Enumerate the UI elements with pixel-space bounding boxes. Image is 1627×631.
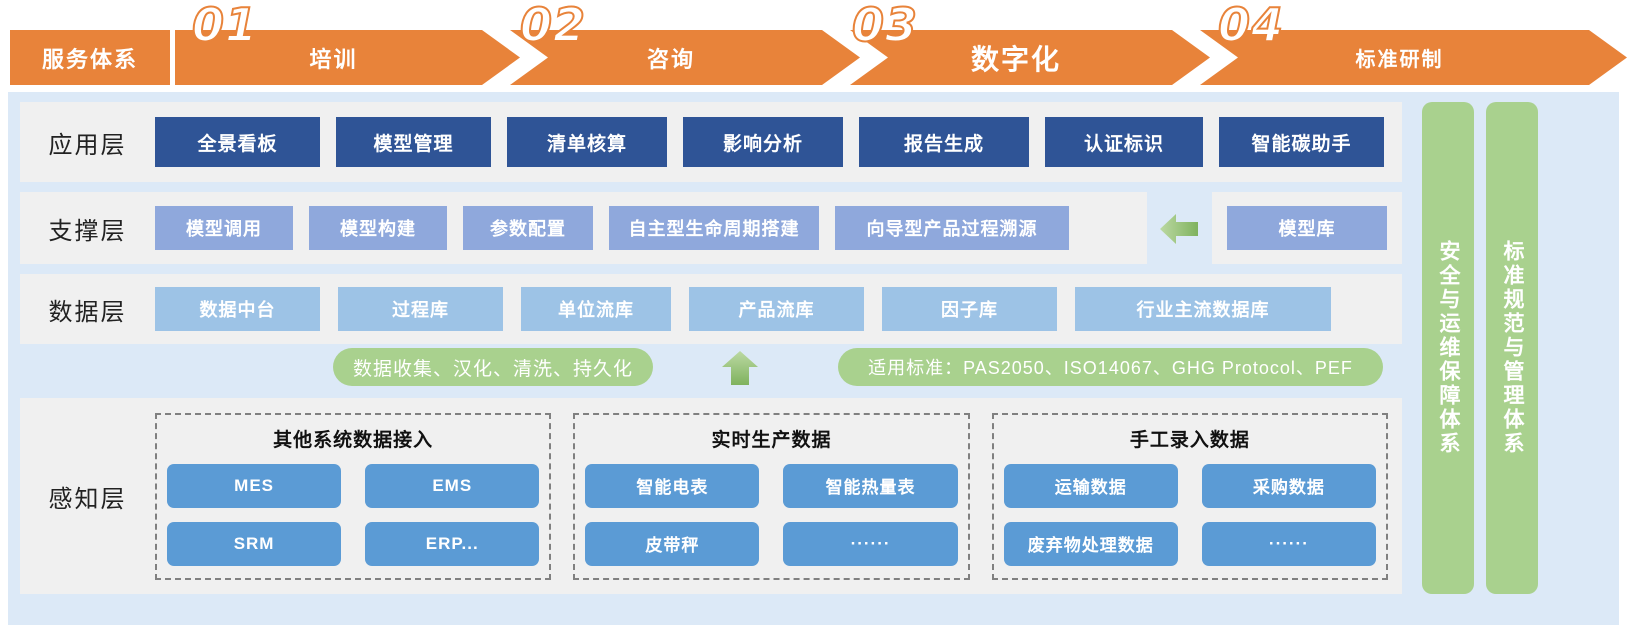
- data-layer-boxes: 数据中台 过程库 单位流库 产品流库 因子库 行业主流数据库: [155, 287, 1402, 331]
- process-step-2-number: 02: [520, 0, 586, 52]
- app-box-smart-carbon-assistant[interactable]: 智能碳助手: [1219, 117, 1384, 167]
- data-collection-pill: 数据收集、汉化、清洗、持久化: [333, 348, 653, 386]
- sensing-group-other-systems-title: 其他系统数据接入: [273, 425, 433, 452]
- sense-box-smart-heat-meter[interactable]: 智能热量表: [783, 464, 957, 508]
- processing-strip: 数据收集、汉化、清洗、持久化 适用标准：PAS2050、ISO14067、GHG…: [20, 348, 1402, 394]
- data-layer-label: 数据层: [20, 292, 155, 327]
- sense-box-more-1[interactable]: ······: [783, 522, 957, 566]
- sense-box-waste-treatment-data[interactable]: 废弃物处理数据: [1004, 522, 1178, 566]
- data-box-industry-database[interactable]: 行业主流数据库: [1075, 287, 1331, 331]
- process-step-2-label: 咨询: [647, 42, 695, 74]
- application-layer-boxes: 全景看板 模型管理 清单核算 影响分析 报告生成 认证标识 智能碳助手: [155, 117, 1402, 167]
- support-layer-boxes: 模型调用 模型构建 参数配置 自主型生命周期搭建 向导型产品过程溯源: [155, 206, 1147, 250]
- sensing-group-realtime-production-items: 智能电表 智能热量表 皮带秤 ······: [585, 464, 957, 566]
- app-box-model-management[interactable]: 模型管理: [336, 117, 491, 167]
- sensing-layer-label: 感知层: [20, 479, 155, 514]
- process-step-4-number: 04: [1218, 0, 1284, 52]
- support-box-model-library[interactable]: 模型库: [1227, 206, 1387, 250]
- sense-box-srm[interactable]: SRM: [167, 522, 341, 566]
- support-layer: 支撑层 模型调用 模型构建 参数配置 自主型生命周期搭建 向导型产品过程溯源: [20, 192, 1402, 264]
- sensing-group-manual-entry-items: 运输数据 采购数据 废弃物处理数据 ······: [1004, 464, 1376, 566]
- side-panel-standards-management[interactable]: 标准规范与管理体系: [1486, 102, 1538, 594]
- application-layer: 应用层 全景看板 模型管理 清单核算 影响分析 报告生成 认证标识 智能碳助手: [20, 102, 1402, 182]
- support-box-model-building[interactable]: 模型构建: [309, 206, 447, 250]
- app-box-certification-label[interactable]: 认证标识: [1045, 117, 1203, 167]
- architecture-diagram: 服务体系 培训 咨询 数字化 标准研制 01 02 03 04 应用层 全景看板…: [0, 0, 1627, 631]
- app-box-panorama-dashboard[interactable]: 全景看板: [155, 117, 320, 167]
- process-step-1-label: 培训: [309, 42, 357, 74]
- sense-box-ems[interactable]: EMS: [365, 464, 539, 508]
- support-layer-main-panel: 支撑层 模型调用 模型构建 参数配置 自主型生命周期搭建 向导型产品过程溯源: [20, 192, 1147, 264]
- sense-box-belt-scale[interactable]: 皮带秤: [585, 522, 759, 566]
- data-box-unit-flow-library[interactable]: 单位流库: [521, 287, 671, 331]
- app-box-impact-analysis[interactable]: 影响分析: [683, 117, 843, 167]
- arrow-up-green-icon: [720, 351, 760, 385]
- support-layer-label: 支撑层: [20, 211, 155, 246]
- sensing-group-other-systems: 其他系统数据接入 MES EMS SRM ERP...: [155, 413, 551, 580]
- sensing-group-realtime-production: 实时生产数据 智能电表 智能热量表 皮带秤 ······: [573, 413, 969, 580]
- sense-box-procurement-data[interactable]: 采购数据: [1202, 464, 1376, 508]
- process-banner: 服务体系 培训 咨询 数字化 标准研制 01 02 03 04: [0, 0, 1627, 88]
- data-box-factor-library[interactable]: 因子库: [882, 287, 1057, 331]
- support-box-lifecycle-builder[interactable]: 自主型生命周期搭建: [609, 206, 819, 250]
- sensing-group-other-systems-items: MES EMS SRM ERP...: [167, 464, 539, 566]
- sense-box-erp[interactable]: ERP...: [365, 522, 539, 566]
- applicable-standards-pill: 适用标准：PAS2050、ISO14067、GHG Protocol、PEF: [838, 348, 1383, 386]
- data-box-data-midend[interactable]: 数据中台: [155, 287, 320, 331]
- arrow-left-green-icon: [1160, 212, 1198, 246]
- process-step-1-number: 01: [192, 0, 258, 52]
- app-box-inventory-accounting[interactable]: 清单核算: [507, 117, 667, 167]
- data-layer: 数据层 数据中台 过程库 单位流库 产品流库 因子库 行业主流数据库: [20, 274, 1402, 344]
- data-box-product-flow-library[interactable]: 产品流库: [689, 287, 864, 331]
- sensing-group-manual-entry-title: 手工录入数据: [1130, 425, 1250, 452]
- sensing-group-realtime-production-title: 实时生产数据: [711, 425, 831, 452]
- support-layer-library-panel: 模型库: [1212, 192, 1402, 264]
- support-box-guided-traceability[interactable]: 向导型产品过程溯源: [835, 206, 1069, 250]
- process-step-3-number: 03: [852, 0, 918, 52]
- banner-title: 服务体系: [10, 30, 170, 85]
- side-panel-security-ops[interactable]: 安全与运维保障体系: [1422, 102, 1474, 594]
- app-box-report-generation[interactable]: 报告生成: [859, 117, 1029, 167]
- sense-box-more-2[interactable]: ······: [1202, 522, 1376, 566]
- process-step-3-label: 数字化: [971, 38, 1061, 78]
- process-step-4-label: 标准研制: [1356, 43, 1444, 72]
- sense-box-mes[interactable]: MES: [167, 464, 341, 508]
- sensing-group-manual-entry: 手工录入数据 运输数据 采购数据 废弃物处理数据 ······: [992, 413, 1388, 580]
- sense-box-transport-data[interactable]: 运输数据: [1004, 464, 1178, 508]
- application-layer-label: 应用层: [20, 125, 155, 160]
- support-box-parameter-config[interactable]: 参数配置: [463, 206, 593, 250]
- platform-canvas: 应用层 全景看板 模型管理 清单核算 影响分析 报告生成 认证标识 智能碳助手 …: [8, 92, 1619, 625]
- sensing-layer-groups: 其他系统数据接入 MES EMS SRM ERP... 实时生产数据 智能电表 …: [155, 413, 1402, 580]
- support-box-model-invocation[interactable]: 模型调用: [155, 206, 293, 250]
- data-box-process-library[interactable]: 过程库: [338, 287, 503, 331]
- sensing-layer: 感知层 其他系统数据接入 MES EMS SRM ERP... 实时生产数据 智…: [20, 398, 1402, 594]
- sense-box-smart-meter[interactable]: 智能电表: [585, 464, 759, 508]
